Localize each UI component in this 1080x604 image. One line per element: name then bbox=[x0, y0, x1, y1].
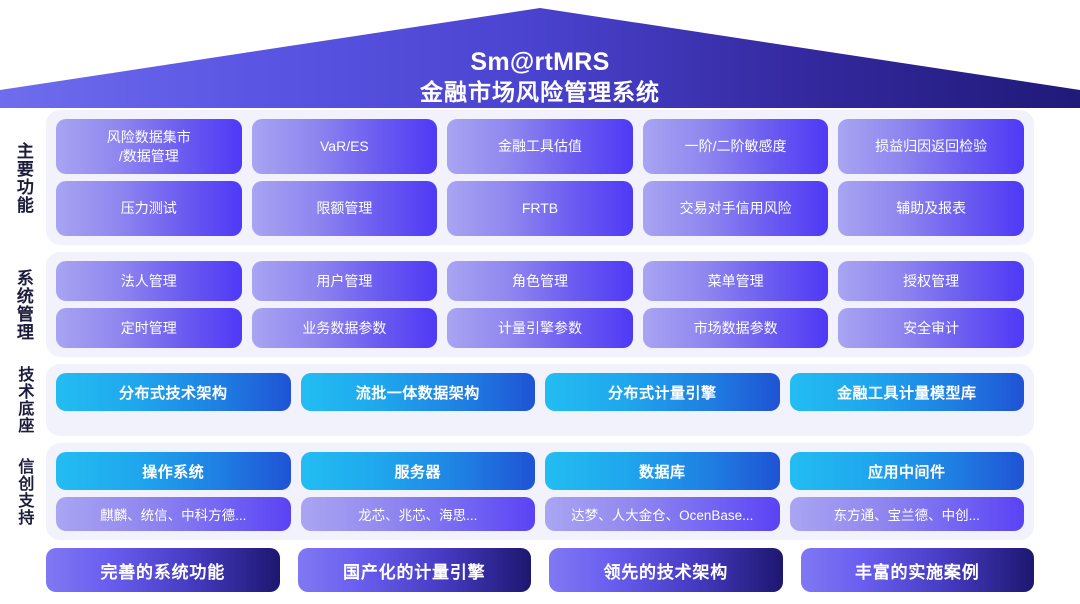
tech-card[interactable]: 分布式技术架构 bbox=[56, 373, 291, 411]
band-box-xinchuang-support: 操作系统 服务器 数据库 应用中间件 麒麟、统信、中科方德... 龙芯、兆芯、海… bbox=[46, 443, 1034, 540]
platform-category-card[interactable]: 操作系统 bbox=[56, 452, 291, 490]
tech-card[interactable]: 金融工具计量模型库 bbox=[790, 373, 1025, 411]
feature-card[interactable]: 菜单管理 bbox=[643, 261, 829, 301]
highlight-card[interactable]: 领先的技术架构 bbox=[549, 548, 783, 592]
feature-card[interactable]: 市场数据参数 bbox=[643, 308, 829, 348]
card-row: 操作系统 服务器 数据库 应用中间件 bbox=[56, 452, 1024, 490]
feature-card[interactable]: 一阶/二阶敏感度 bbox=[643, 119, 829, 174]
vendor-list-card[interactable]: 龙芯、兆芯、海思... bbox=[301, 497, 536, 531]
highlight-card[interactable]: 国产化的计量引擎 bbox=[298, 548, 532, 592]
highlight-card[interactable]: 丰富的实施案例 bbox=[801, 548, 1035, 592]
platform-category-card[interactable]: 应用中间件 bbox=[790, 452, 1025, 490]
platform-category-card[interactable]: 服务器 bbox=[301, 452, 536, 490]
roof-banner: Sm@rtMRS 金融市场风险管理系统 bbox=[0, 8, 1080, 108]
band-label-xinchuang-support: 信创支持 bbox=[0, 443, 46, 540]
architecture-diagram: Sm@rtMRS 金融市场风险管理系统 主要功能 风险数据集市 /数据管理 Va… bbox=[0, 0, 1080, 604]
band-label-system-management: 系统管理 bbox=[0, 252, 46, 357]
card-row: 法人管理 用户管理 角色管理 菜单管理 授权管理 bbox=[56, 261, 1024, 301]
band-tech-foundation: 技术底座 分布式技术架构 流批一体数据架构 分布式计量引擎 金融工具计量模型库 bbox=[0, 364, 1080, 436]
feature-card[interactable]: 角色管理 bbox=[447, 261, 633, 301]
card-row: 定时管理 业务数据参数 计量引擎参数 市场数据参数 安全审计 bbox=[56, 308, 1024, 348]
card-row: 风险数据集市 /数据管理 VaR/ES 金融工具估值 一阶/二阶敏感度 损益归因… bbox=[56, 119, 1024, 174]
band-system-management: 系统管理 法人管理 用户管理 角色管理 菜单管理 授权管理 定时管理 业务数据参… bbox=[0, 252, 1080, 357]
band-stack: 主要功能 风险数据集市 /数据管理 VaR/ES 金融工具估值 一阶/二阶敏感度… bbox=[0, 110, 1080, 547]
feature-card[interactable]: 限额管理 bbox=[252, 181, 438, 236]
feature-card[interactable]: 压力测试 bbox=[56, 181, 242, 236]
roof-shape bbox=[0, 8, 1080, 108]
card-row: 压力测试 限额管理 FRTB 交易对手信用风险 辅助及报表 bbox=[56, 181, 1024, 236]
card-row: 分布式技术架构 流批一体数据架构 分布式计量引擎 金融工具计量模型库 bbox=[56, 373, 1024, 411]
feature-card[interactable]: FRTB bbox=[447, 181, 633, 236]
tech-card[interactable]: 分布式计量引擎 bbox=[545, 373, 780, 411]
feature-card[interactable]: 授权管理 bbox=[838, 261, 1024, 301]
feature-card[interactable]: 金融工具估值 bbox=[447, 119, 633, 174]
feature-card[interactable]: 交易对手信用风险 bbox=[643, 181, 829, 236]
feature-card[interactable]: 风险数据集市 /数据管理 bbox=[56, 119, 242, 174]
highlight-card[interactable]: 完善的系统功能 bbox=[46, 548, 280, 592]
footer-highlights: 完善的系统功能 国产化的计量引擎 领先的技术架构 丰富的实施案例 bbox=[46, 548, 1034, 592]
band-box-system-management: 法人管理 用户管理 角色管理 菜单管理 授权管理 定时管理 业务数据参数 计量引… bbox=[46, 252, 1034, 357]
band-main-functions: 主要功能 风险数据集市 /数据管理 VaR/ES 金融工具估值 一阶/二阶敏感度… bbox=[0, 110, 1080, 245]
feature-card[interactable]: 业务数据参数 bbox=[252, 308, 438, 348]
feature-card[interactable]: 损益归因返回检验 bbox=[838, 119, 1024, 174]
feature-card[interactable]: 定时管理 bbox=[56, 308, 242, 348]
vendor-list-card[interactable]: 东方通、宝兰德、中创... bbox=[790, 497, 1025, 531]
vendor-list-card[interactable]: 达梦、人大金仓、OcenBase... bbox=[545, 497, 780, 531]
band-label-main-functions: 主要功能 bbox=[0, 110, 46, 245]
feature-card[interactable]: 计量引擎参数 bbox=[447, 308, 633, 348]
tech-card[interactable]: 流批一体数据架构 bbox=[301, 373, 536, 411]
feature-card[interactable]: 辅助及报表 bbox=[838, 181, 1024, 236]
vendor-list-card[interactable]: 麒麟、统信、中科方德... bbox=[56, 497, 291, 531]
card-row: 麒麟、统信、中科方德... 龙芯、兆芯、海思... 达梦、人大金仓、OcenBa… bbox=[56, 497, 1024, 531]
feature-card[interactable]: 安全审计 bbox=[838, 308, 1024, 348]
feature-card[interactable]: 用户管理 bbox=[252, 261, 438, 301]
platform-category-card[interactable]: 数据库 bbox=[545, 452, 780, 490]
band-box-tech-foundation: 分布式技术架构 流批一体数据架构 分布式计量引擎 金融工具计量模型库 bbox=[46, 364, 1034, 436]
band-xinchuang-support: 信创支持 操作系统 服务器 数据库 应用中间件 麒麟、统信、中科方德... 龙芯… bbox=[0, 443, 1080, 540]
feature-card[interactable]: VaR/ES bbox=[252, 119, 438, 174]
feature-card[interactable]: 法人管理 bbox=[56, 261, 242, 301]
band-label-tech-foundation: 技术底座 bbox=[0, 364, 46, 436]
band-box-main-functions: 风险数据集市 /数据管理 VaR/ES 金融工具估值 一阶/二阶敏感度 损益归因… bbox=[46, 110, 1034, 245]
